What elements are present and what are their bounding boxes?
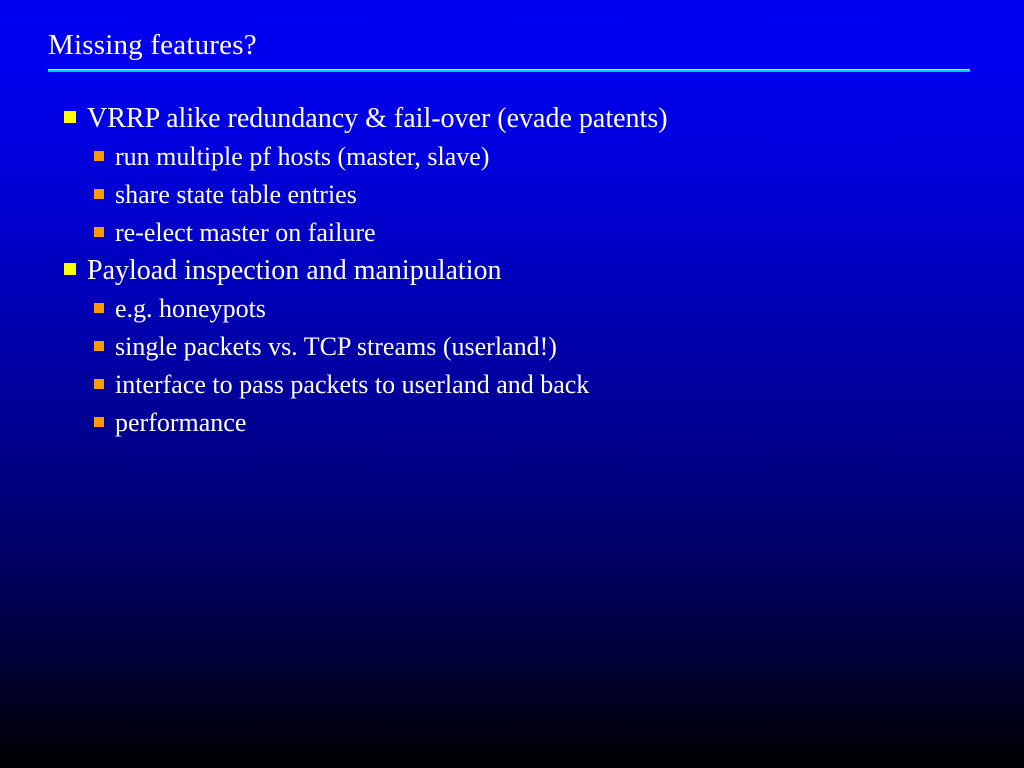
square-bullet-icon: [94, 341, 104, 351]
slide-body-outline: VRRP alike redundancy & fail-over (evade…: [0, 100, 1024, 442]
square-bullet-icon: [94, 151, 104, 161]
slide-canvas: Missing features? VRRP alike redundancy …: [0, 0, 1024, 768]
list-item-label: run multiple pf hosts (master, slave): [115, 138, 489, 176]
list-item-label: Payload inspection and manipulation: [87, 252, 501, 290]
square-bullet-icon: [94, 417, 104, 427]
square-bullet-icon: [94, 227, 104, 237]
list-item-level2[interactable]: run multiple pf hosts (master, slave): [0, 138, 1024, 176]
list-item-level1[interactable]: Payload inspection and manipulation: [0, 252, 1024, 290]
list-item-level2[interactable]: share state table entries: [0, 176, 1024, 214]
list-item-label: e.g. honeypots: [115, 290, 266, 328]
list-item-label: share state table entries: [115, 176, 357, 214]
list-item-label: interface to pass packets to userland an…: [115, 366, 589, 404]
list-item-label: VRRP alike redundancy & fail-over (evade…: [87, 100, 668, 138]
list-item-label: performance: [115, 404, 246, 442]
outline-group: VRRP alike redundancy & fail-over (evade…: [0, 100, 1024, 252]
square-bullet-icon: [64, 263, 76, 275]
list-item-level1[interactable]: VRRP alike redundancy & fail-over (evade…: [0, 100, 1024, 138]
list-item-level2[interactable]: e.g. honeypots: [0, 290, 1024, 328]
list-item-label: re-elect master on failure: [115, 214, 376, 252]
square-bullet-icon: [94, 379, 104, 389]
list-item-level2[interactable]: re-elect master on failure: [0, 214, 1024, 252]
list-item-level2[interactable]: performance: [0, 404, 1024, 442]
list-item-level2[interactable]: interface to pass packets to userland an…: [0, 366, 1024, 404]
list-item-level2[interactable]: single packets vs. TCP streams (userland…: [0, 328, 1024, 366]
square-bullet-icon: [64, 111, 76, 123]
title-divider-rule: [48, 69, 970, 72]
list-item-label: single packets vs. TCP streams (userland…: [115, 328, 557, 366]
square-bullet-icon: [94, 303, 104, 313]
title-area: Missing features?: [48, 28, 978, 62]
outline-group: Payload inspection and manipulation e.g.…: [0, 252, 1024, 442]
page-title: Missing features?: [48, 28, 978, 62]
square-bullet-icon: [94, 189, 104, 199]
